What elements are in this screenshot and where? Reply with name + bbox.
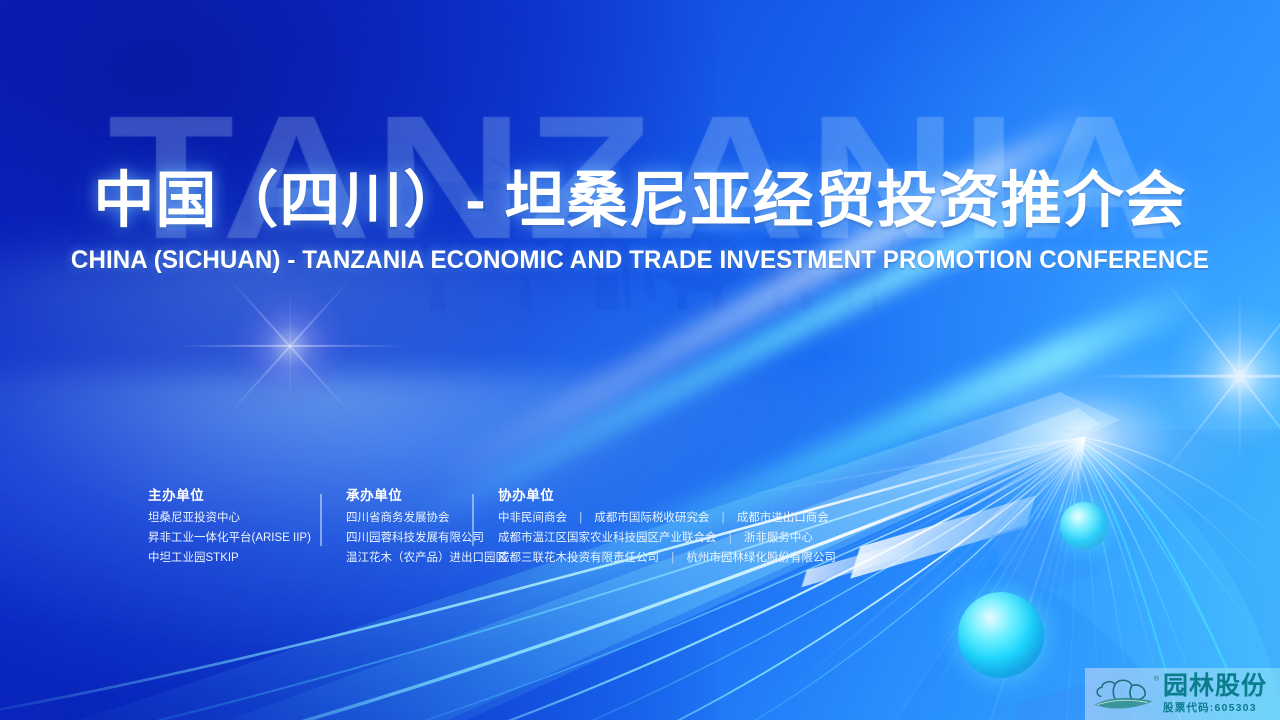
organizer-entry: 中非民间商会: [498, 512, 567, 524]
organizer-line: 成都三联花木投资有限责任公司 | 杭州市园林绿化股份有限公司: [498, 549, 836, 569]
page-title-english: CHINA (SICHUAN) - TANZANIA ECONOMIC AND …: [22, 246, 1257, 275]
title-block: 中国（四川）- 坦桑尼亚经贸投资推介会 CHINA (SICHUAN) - TA…: [0, 168, 1280, 275]
organizer-heading: 主办单位: [148, 484, 298, 504]
organizer-line: 昇非工业一体化平台(ARISE IIP): [148, 529, 298, 549]
brand-stock-code: 股票代码:605303: [1163, 703, 1267, 714]
organizer-column-host: 主办单位 坦桑尼亚投资中心 昇非工业一体化平台(ARISE IIP) 中坦工业园…: [148, 484, 298, 568]
organizer-line: 成都市温江区国家农业科技园区产业联合会 | 浙非服务中心: [498, 529, 836, 549]
organizer-heading: 承办单位: [346, 484, 450, 504]
organizer-line: 中非民间商会 | 成都市国际税收研究会 | 成都市进出口商会: [498, 509, 836, 529]
cloud-mountain-leaf-icon: ®: [1091, 674, 1157, 714]
organizer-column-coorganizer: 协办单位 中非民间商会 | 成都市国际税收研究会 | 成都市进出口商会 成都市温…: [472, 484, 836, 568]
organizer-line: 坦桑尼亚投资中心: [148, 509, 298, 529]
brand-text: 园林股份 股票代码:605303: [1163, 674, 1267, 714]
organizer-line: 四川省商务发展协会: [346, 509, 450, 529]
organizer-heading: 协办单位: [498, 484, 836, 504]
organizer-line: 四川园蓉科技发展有限公司: [346, 529, 450, 549]
organizer-entry: 成都市国际税收研究会: [594, 512, 709, 524]
organizer-separator: |: [720, 529, 741, 549]
organizer-separator: |: [662, 549, 683, 569]
organizer-entry: 成都市进出口商会: [737, 512, 829, 524]
registered-trademark-icon: ®: [1154, 676, 1159, 683]
organizer-entry: 浙非服务中心: [744, 532, 813, 544]
poster-canvas: TANZANIA: [0, 0, 1280, 720]
glowing-sphere-large: [958, 592, 1044, 678]
organizer-column-organizer: 承办单位 四川省商务发展协会 四川园蓉科技发展有限公司 温江花木（农产品）进出口…: [320, 484, 450, 568]
organizer-entry: 成都市温江区国家农业科技园区产业联合会: [498, 532, 717, 544]
brand-watermark: ® 园林股份 股票代码:605303: [1085, 668, 1280, 720]
organizer-entry: 杭州市园林绿化股份有限公司: [686, 552, 836, 564]
brand-name: 园林股份: [1163, 674, 1267, 699]
organizer-separator: |: [570, 509, 591, 529]
page-title-chinese: 中国（四川）- 坦桑尼亚经贸投资推介会: [0, 168, 1280, 232]
glowing-sphere-small: [1060, 502, 1108, 550]
organizer-block: 主办单位 坦桑尼亚投资中心 昇非工业一体化平台(ARISE IIP) 中坦工业园…: [148, 484, 836, 568]
organizer-line: 温江花木（农产品）进出口园区: [346, 549, 450, 569]
organizer-separator: |: [713, 509, 734, 529]
organizer-entry: 成都三联花木投资有限责任公司: [498, 552, 659, 564]
organizer-line: 中坦工业园STKIP: [148, 549, 298, 569]
